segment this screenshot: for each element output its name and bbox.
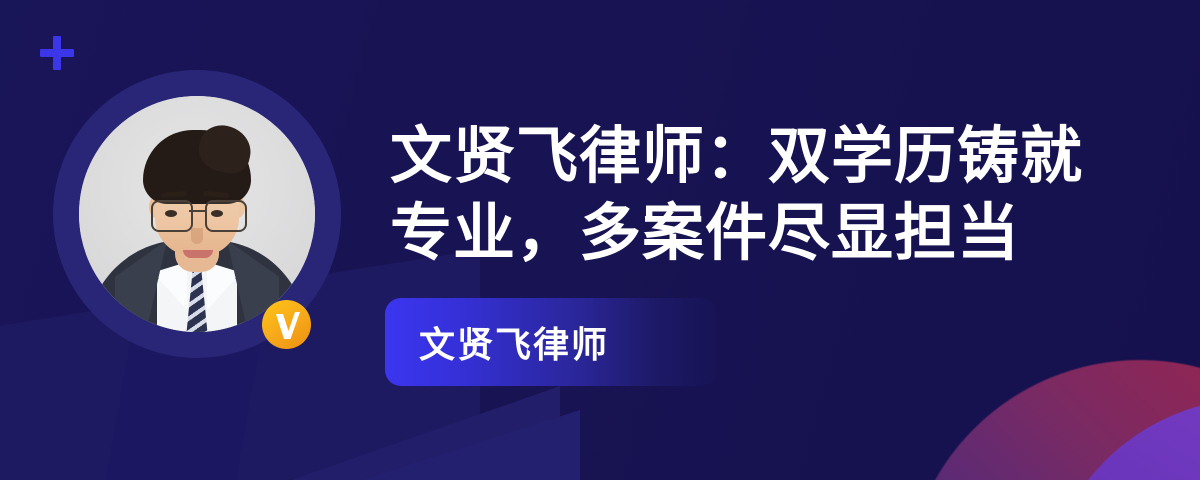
glasses-icon <box>149 200 245 230</box>
banner-content: 文贤飞律师：双学历铸就 专业，多案件尽显担当 文贤飞律师 <box>390 0 1170 480</box>
glasses-lens-left <box>151 200 193 232</box>
avatar <box>53 70 341 358</box>
plus-icon-bar-vertical <box>53 36 61 70</box>
page-title: 文贤飞律师：双学历铸就 专业，多案件尽显担当 <box>390 118 1090 272</box>
promo-banner: 文贤飞律师：双学历铸就 专业，多案件尽显担当 文贤飞律师 <box>0 0 1200 480</box>
verified-v-icon <box>262 300 311 349</box>
avatar-photo <box>79 96 315 332</box>
plus-icon <box>40 36 74 70</box>
cta-button[interactable]: 文贤飞律师 <box>385 298 717 386</box>
glasses-bridge <box>189 210 205 212</box>
avatar-nose <box>191 228 203 244</box>
glasses-lens-right <box>205 200 247 232</box>
avatar-mouth <box>183 250 213 258</box>
